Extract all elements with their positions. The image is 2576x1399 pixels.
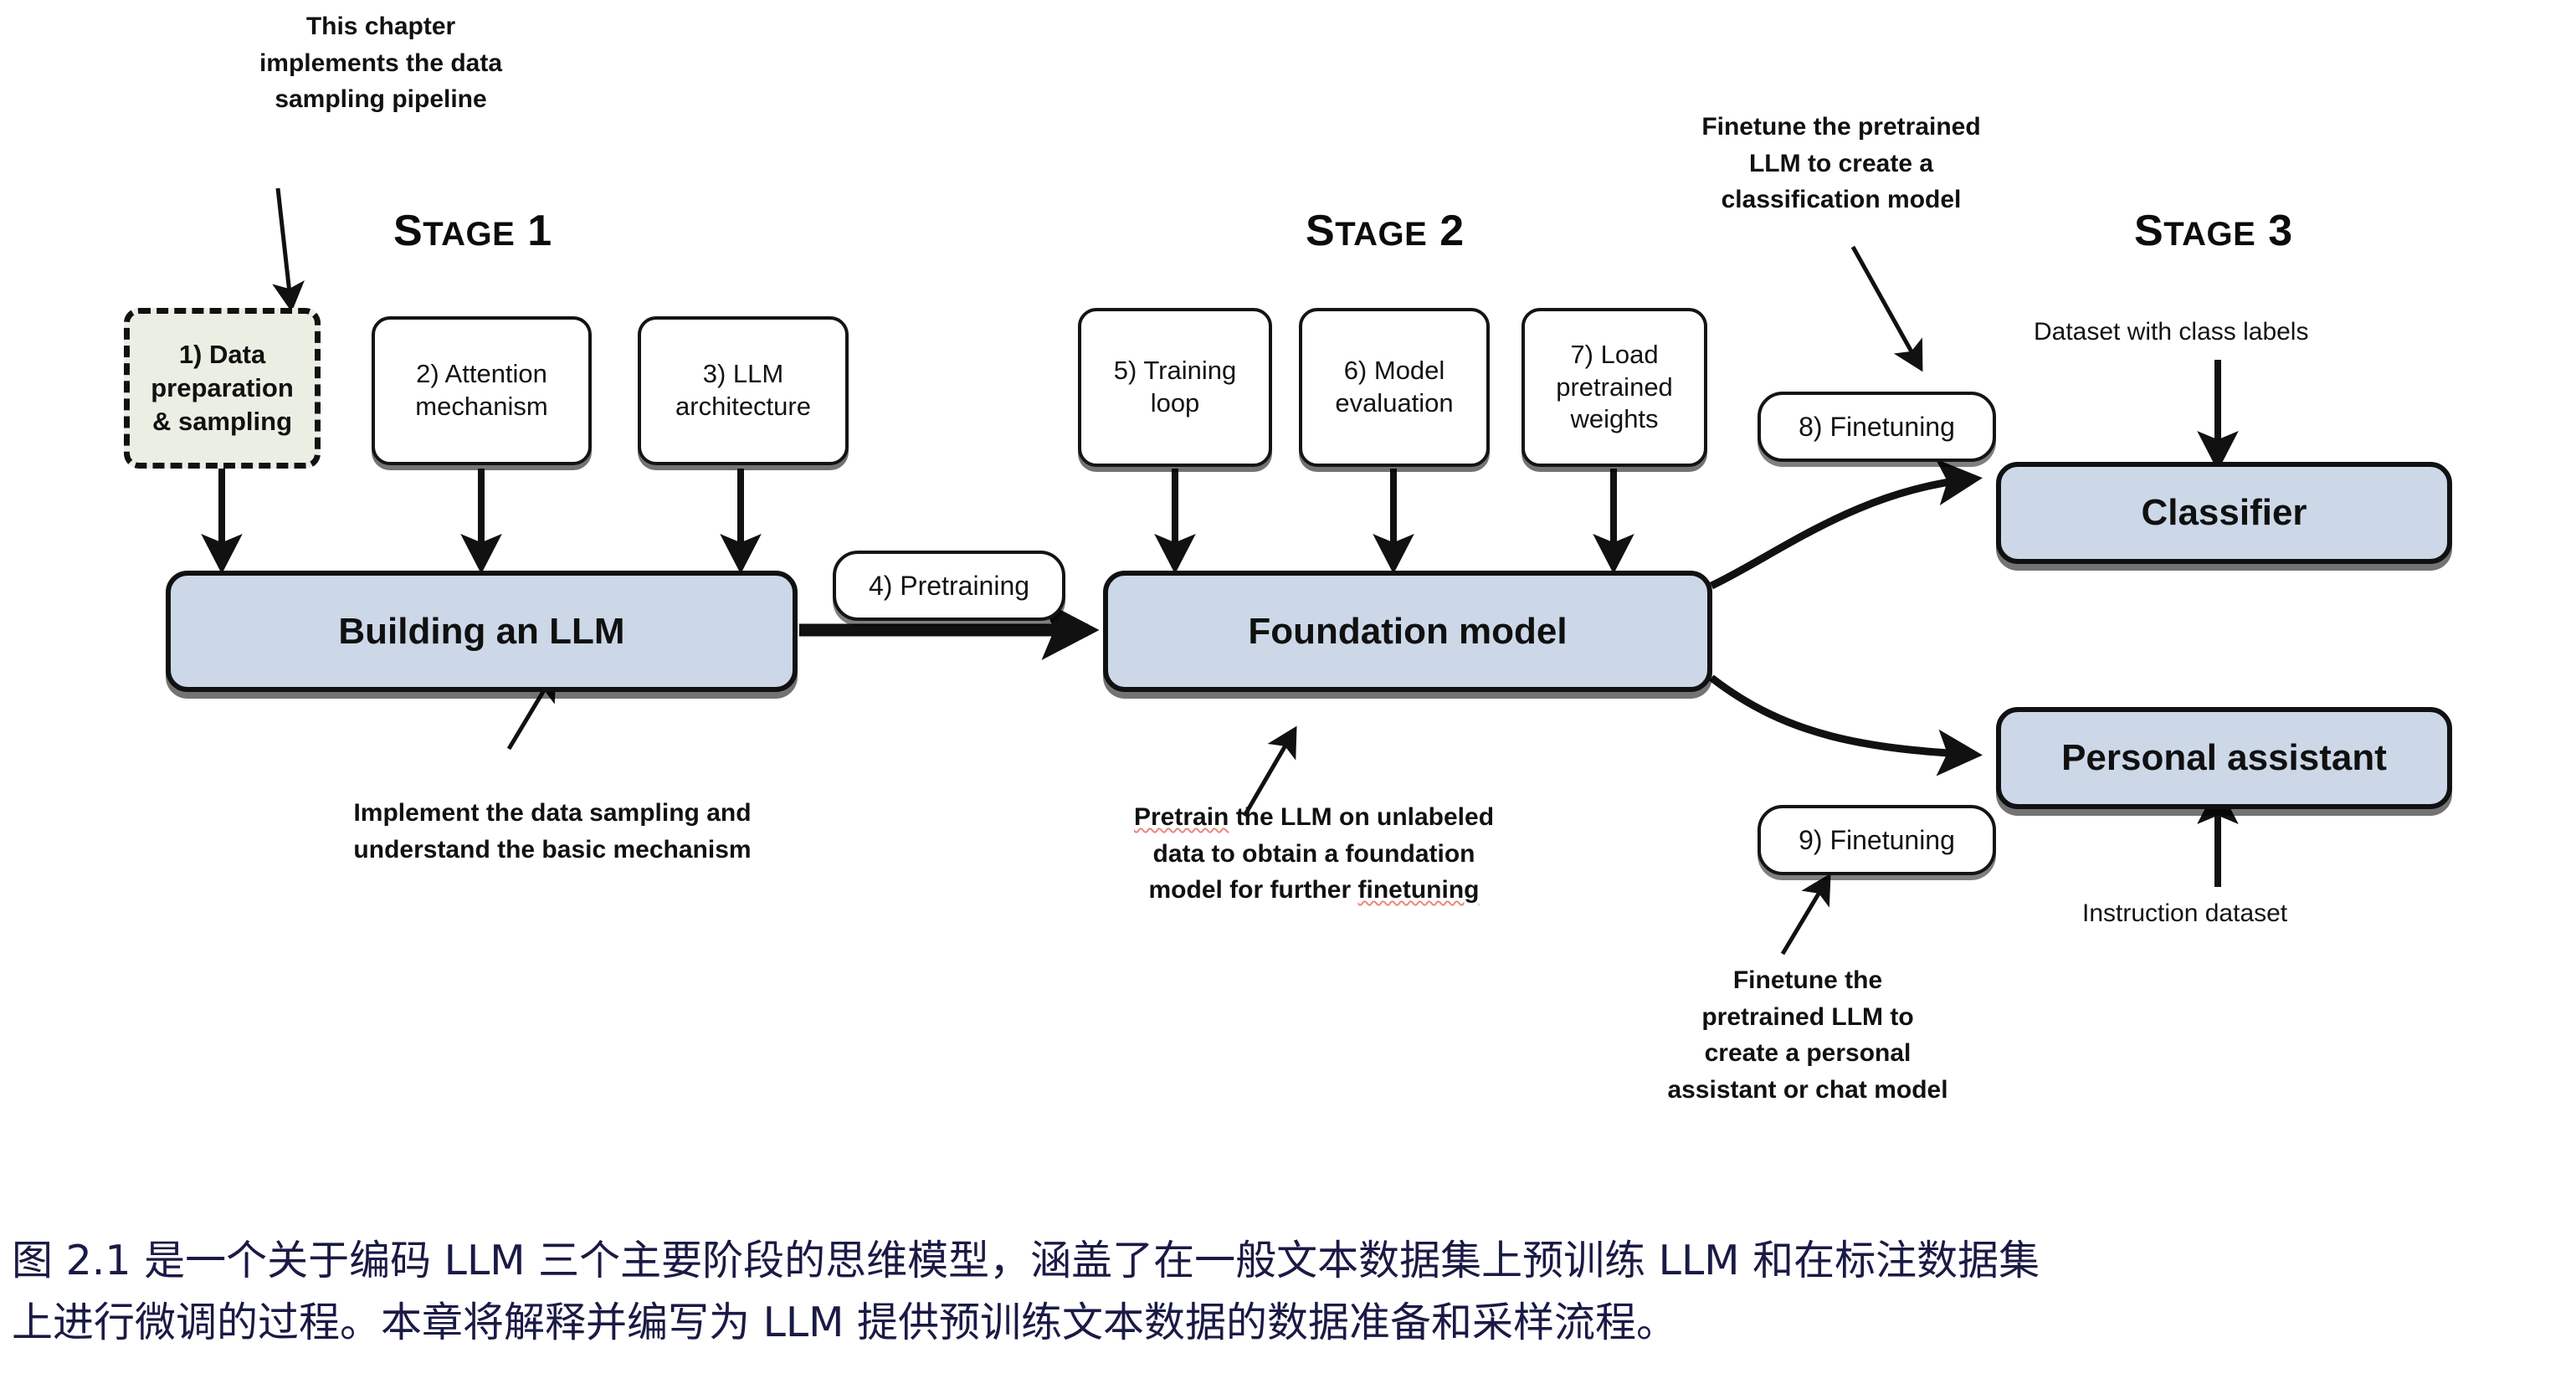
stage-3-heading: STAGE 3 xyxy=(2134,209,2293,253)
stage-3-number: 3 xyxy=(2268,207,2292,255)
label-instruction-dataset: Instruction dataset xyxy=(2082,899,2287,928)
step-box-1-data-preparation[interactable]: 1) Data preparation & sampling xyxy=(124,308,321,469)
stage-1-heading: STAGE 1 xyxy=(393,209,552,253)
pill-box-4-pretraining[interactable]: 4) Pretraining xyxy=(833,551,1065,621)
pretrain-note-annotation: Pretrain the LLM on unlabeled data to ob… xyxy=(1080,799,1548,909)
figure-canvas: STAGE 1 STAGE 2 STAGE 3 This chapter imp… xyxy=(0,0,2576,1399)
stage-1-space xyxy=(515,207,527,255)
step-box-5-training-loop[interactable]: 5) Training loop xyxy=(1078,308,1272,467)
assistant-note-annotation: Finetune the pretrained LLM to create a … xyxy=(1573,962,2042,1108)
caption-line-2: 上进行微调的过程。本章将解释并编写为 LLM 提供预训练文本数据的数据准备和采样… xyxy=(12,1292,2564,1354)
finetuning-spellcheck-word: finetuning xyxy=(1358,876,1480,904)
stage-2-number: 2 xyxy=(1439,207,1464,255)
figure-caption: 图 2.1 是一个关于编码 LLM 三个主要阶段的思维模型，涵盖了在一般文本数据… xyxy=(12,1230,2564,1353)
stage-1-smallcaps: TAGE xyxy=(423,216,515,253)
stage-2-cap: S xyxy=(1306,207,1335,255)
step-box-7-load-pretrained-weights[interactable]: 7) Load pretrained weights xyxy=(1521,308,1707,467)
stage-1-number: 1 xyxy=(527,207,552,255)
stage-2-space xyxy=(1427,207,1439,255)
pretrain-spellcheck-word: Pretrain xyxy=(1134,803,1229,831)
blue-box-building-an-llm[interactable]: Building an LLM xyxy=(166,571,798,692)
step-box-2-attention-mechanism[interactable]: 2) Attention mechanism xyxy=(372,316,592,465)
label-dataset-with-class-labels: Dataset with class labels xyxy=(2034,318,2308,346)
stage-2-heading: STAGE 2 xyxy=(1306,209,1465,253)
caption-line-1: 图 2.1 是一个关于编码 LLM 三个主要阶段的思维模型，涵盖了在一般文本数据… xyxy=(12,1230,2564,1292)
blue-box-classifier[interactable]: Classifier xyxy=(1996,462,2452,564)
implement-note-annotation: Implement the data sampling and understa… xyxy=(276,795,829,868)
stage-1-cap: S xyxy=(393,207,423,255)
stage-3-smallcaps: TAGE xyxy=(2163,216,2255,253)
pill-box-9-finetuning[interactable]: 9) Finetuning xyxy=(1758,805,1996,875)
stage-2-smallcaps: TAGE xyxy=(1335,216,1427,253)
stage-3-space xyxy=(2255,207,2268,255)
blue-box-personal-assistant[interactable]: Personal assistant xyxy=(1996,707,2452,809)
stage-3-cap: S xyxy=(2134,207,2163,255)
chapter-note-annotation: This chapter implements the data samplin… xyxy=(201,8,561,118)
step-box-3-llm-architecture[interactable]: 3) LLM architecture xyxy=(638,316,849,465)
step-box-6-model-evaluation[interactable]: 6) Model evaluation xyxy=(1299,308,1490,467)
blue-box-foundation-model[interactable]: Foundation model xyxy=(1103,571,1712,692)
pill-box-8-finetuning[interactable]: 8) Finetuning xyxy=(1758,392,1996,462)
classifier-note-annotation: Finetune the pretrained LLM to create a … xyxy=(1640,109,2042,218)
